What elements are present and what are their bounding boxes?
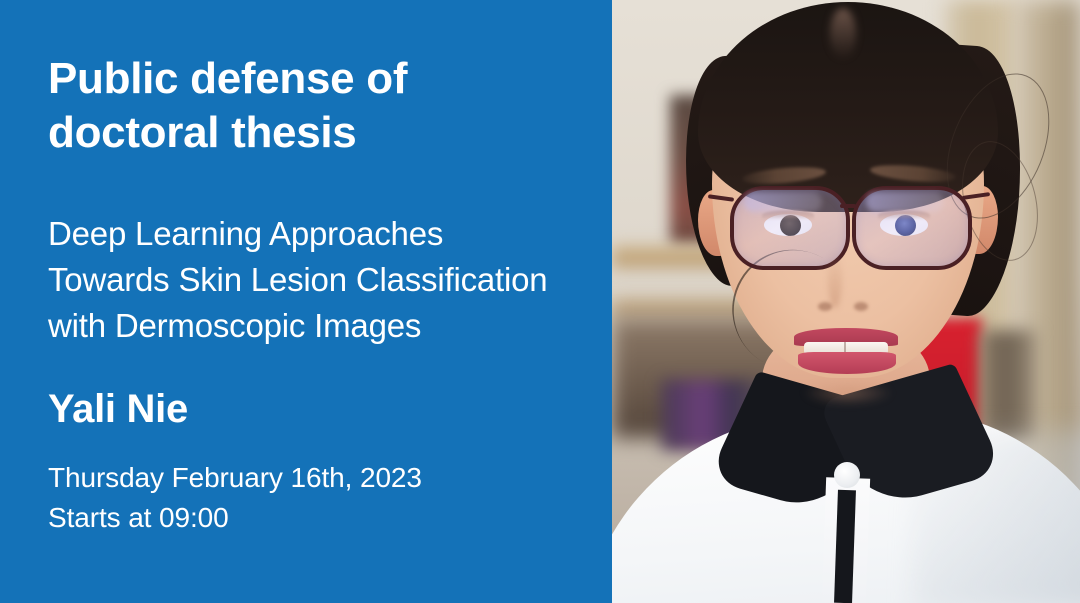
glasses-bridge [840, 204, 856, 208]
thesis-title: Deep Learning Approaches Towards Skin Le… [48, 211, 608, 349]
glasses-glare-right [866, 192, 944, 212]
event-date: Thursday February 16th, 2023 [48, 460, 422, 496]
candidate-name: Yali Nie [48, 385, 188, 433]
portrait-chin [802, 380, 894, 406]
portrait-collar-button [834, 462, 860, 488]
portrait-nose [828, 250, 842, 308]
portrait-photo [612, 0, 1080, 603]
portrait-lower-lip [798, 352, 896, 374]
defense-announcement-poster: Public defense of doctoral thesis Deep L… [0, 0, 1080, 603]
page-title: Public defense of doctoral thesis [48, 52, 588, 160]
portrait-nostril-left [818, 302, 832, 311]
portrait-hair-parting [830, 8, 856, 60]
announcement-text-panel: Public defense of doctoral thesis Deep L… [0, 0, 612, 603]
event-time: Starts at 09:00 [48, 500, 229, 536]
glasses-glare-left [744, 192, 822, 212]
portrait-nostril-right [854, 302, 868, 311]
photo-background-books-right [980, 330, 1036, 440]
